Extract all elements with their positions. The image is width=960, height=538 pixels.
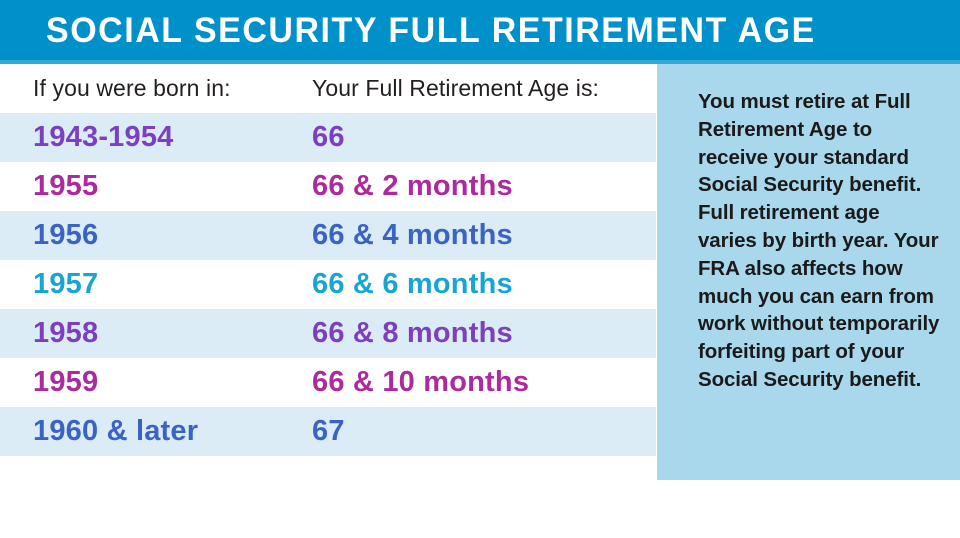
cell-retirement-age: 66 & 10 months bbox=[312, 358, 529, 407]
cell-birth-year: 1960 & later bbox=[33, 407, 198, 456]
table-row: 1960 & later 67 bbox=[0, 407, 656, 456]
table-row: 1956 66 & 4 months bbox=[0, 211, 656, 260]
cell-birth-year: 1956 bbox=[33, 211, 98, 260]
column-header-birth-year: If you were born in: bbox=[33, 64, 231, 113]
table-row: 1943-1954 66 bbox=[0, 113, 656, 162]
cell-birth-year: 1955 bbox=[33, 162, 98, 211]
retirement-age-table: If you were born in: Your Full Retiremen… bbox=[0, 64, 656, 480]
table-header-row: If you were born in: Your Full Retiremen… bbox=[0, 64, 656, 113]
infographic-root: SOCIAL SECURITY FULL RETIREMENT AGE If y… bbox=[0, 0, 960, 480]
side-panel: You must retire at Full Retirement Age t… bbox=[657, 64, 960, 480]
cell-birth-year: 1957 bbox=[33, 260, 98, 309]
side-panel-body-text: You must retire at Full Retirement Age t… bbox=[698, 88, 943, 394]
column-header-retirement-age: Your Full Retirement Age is: bbox=[312, 64, 599, 113]
header-banner: SOCIAL SECURITY FULL RETIREMENT AGE bbox=[0, 0, 960, 60]
table-row: 1955 66 & 2 months bbox=[0, 162, 656, 211]
cell-retirement-age: 66 & 8 months bbox=[312, 309, 513, 358]
cell-birth-year: 1943-1954 bbox=[33, 113, 174, 162]
page-title: SOCIAL SECURITY FULL RETIREMENT AGE bbox=[46, 10, 816, 52]
cell-retirement-age: 66 & 4 months bbox=[312, 211, 513, 260]
cell-retirement-age: 66 bbox=[312, 113, 345, 162]
table-row: 1959 66 & 10 months bbox=[0, 358, 656, 407]
cell-retirement-age: 66 & 6 months bbox=[312, 260, 513, 309]
cell-birth-year: 1958 bbox=[33, 309, 98, 358]
table-row: 1957 66 & 6 months bbox=[0, 260, 656, 309]
cell-retirement-age: 67 bbox=[312, 407, 345, 456]
cell-birth-year: 1959 bbox=[33, 358, 98, 407]
table-row: 1958 66 & 8 months bbox=[0, 309, 656, 358]
cell-retirement-age: 66 & 2 months bbox=[312, 162, 513, 211]
